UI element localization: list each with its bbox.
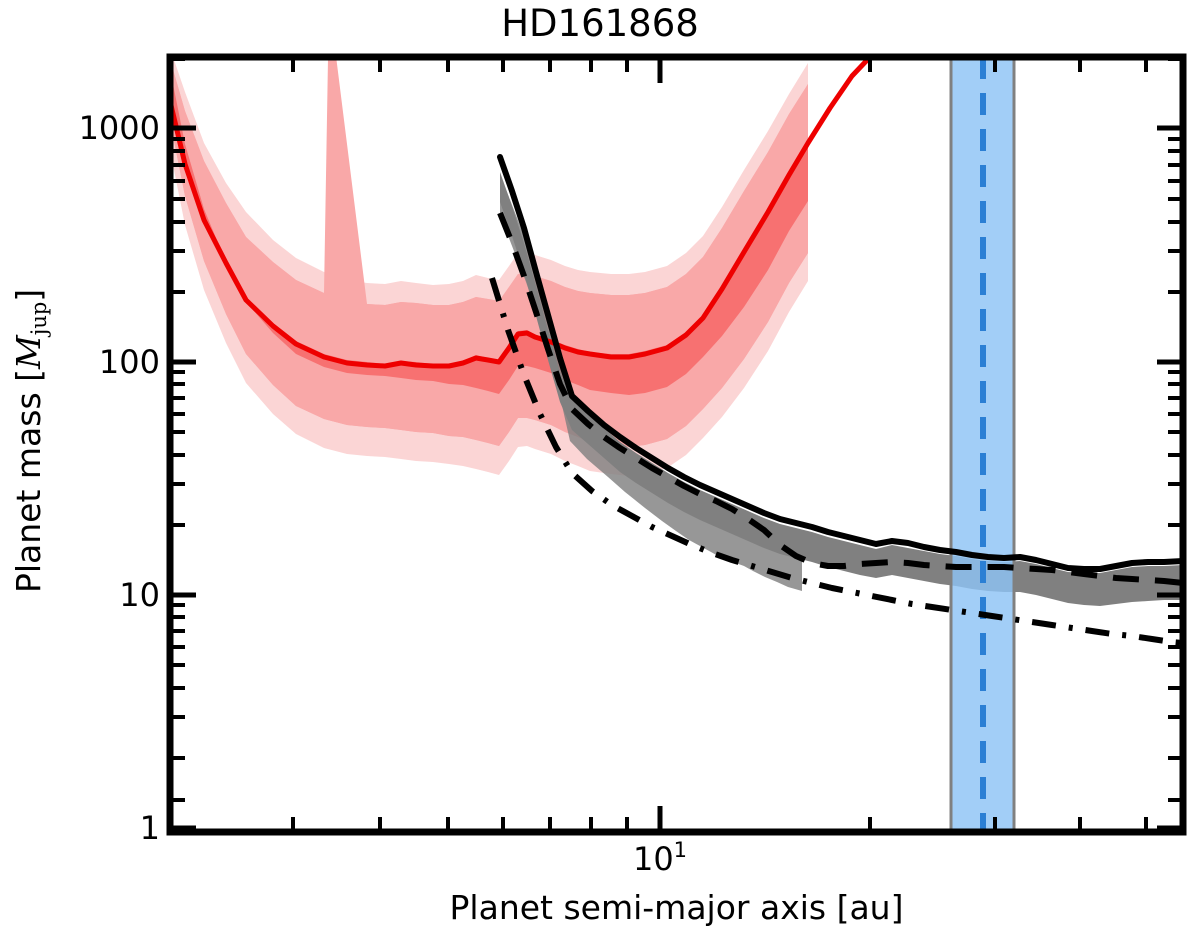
y-axis-right-major-ticks [1157, 128, 1183, 828]
figure-hd161868: HD161868 Planet mass [Mjup] Planet semi-… [0, 0, 1200, 941]
plot-canvas [0, 0, 1200, 941]
